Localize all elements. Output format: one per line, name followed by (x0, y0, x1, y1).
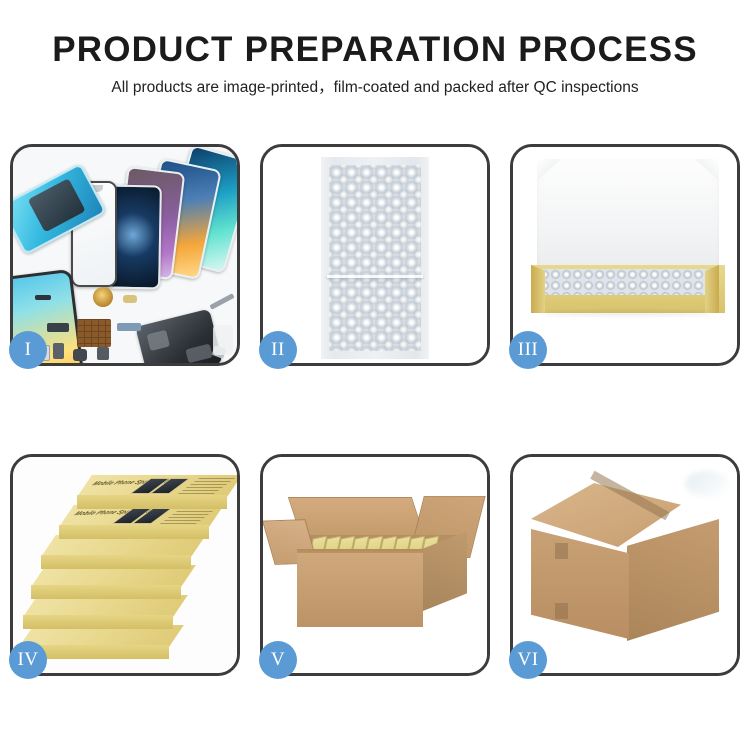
step-panel-2[interactable]: II (260, 144, 490, 366)
bubble-texture (329, 165, 421, 351)
spare-part (73, 349, 87, 361)
step-panel-4[interactable]: Mobile Phone Spare Parts Mobile Phone Sp… (10, 454, 240, 676)
tape-tab (555, 603, 568, 619)
tape-tab (555, 543, 568, 559)
step-panel-1[interactable]: I (10, 144, 240, 366)
step-badge-3: III (509, 331, 547, 369)
tray-right-lip (705, 265, 719, 313)
sealed-carton-side (627, 519, 719, 641)
spare-part (35, 295, 51, 300)
bubble-wrapped-contents (539, 269, 717, 295)
header: PRODUCT PREPARATION PROCESS All products… (0, 0, 750, 100)
step-badge-4: IV (9, 641, 47, 679)
yellow-box-stack: Mobile Phone Spare Parts Mobile Phone Sp… (19, 475, 233, 665)
phone-back-housing (135, 309, 222, 363)
spare-part (123, 295, 137, 303)
carton-front-face (297, 553, 423, 627)
spare-part (209, 293, 234, 310)
page-title: PRODUCT PREPARATION PROCESS (0, 28, 750, 72)
step-badge-1: I (9, 331, 47, 369)
step-panel-3[interactable]: III (510, 144, 740, 366)
step-panel-6[interactable]: VI (510, 454, 740, 676)
step-image-5 (263, 457, 487, 673)
retail-box-labelled: Mobile Phone Spare Parts (59, 505, 209, 539)
step-badge-6: VI (509, 641, 547, 679)
tray-left-lip (531, 265, 545, 313)
retail-box (31, 565, 181, 599)
spare-part (117, 323, 141, 331)
retail-box (41, 535, 191, 569)
white-box-lid (537, 159, 719, 277)
spare-part (97, 347, 109, 360)
retail-box (23, 595, 173, 629)
step-badge-2: II (259, 331, 297, 369)
process-steps-grid: I II III (10, 144, 740, 684)
spare-part (47, 323, 69, 332)
step-badge-5: V (259, 641, 297, 679)
step-image-1 (13, 147, 237, 363)
bubble-wrap-pouch (321, 157, 429, 359)
retail-box-labelled: Mobile Phone Spare Parts (77, 475, 227, 509)
step-image-3 (513, 147, 737, 363)
copper-coil-part (93, 287, 113, 307)
chip-grid-part (77, 319, 111, 347)
step-image-6 (513, 457, 737, 673)
tray-shadow (543, 311, 713, 316)
spare-part (53, 343, 64, 359)
step-panel-5[interactable]: V (260, 454, 490, 676)
spare-part (213, 325, 233, 355)
step-image-2 (263, 147, 487, 363)
page-subtitle: All products are image-printed，film-coat… (0, 76, 750, 100)
highlight-glare (685, 471, 729, 497)
step-image-4: Mobile Phone Spare Parts Mobile Phone Sp… (13, 457, 237, 673)
pouch-seam (327, 275, 423, 278)
